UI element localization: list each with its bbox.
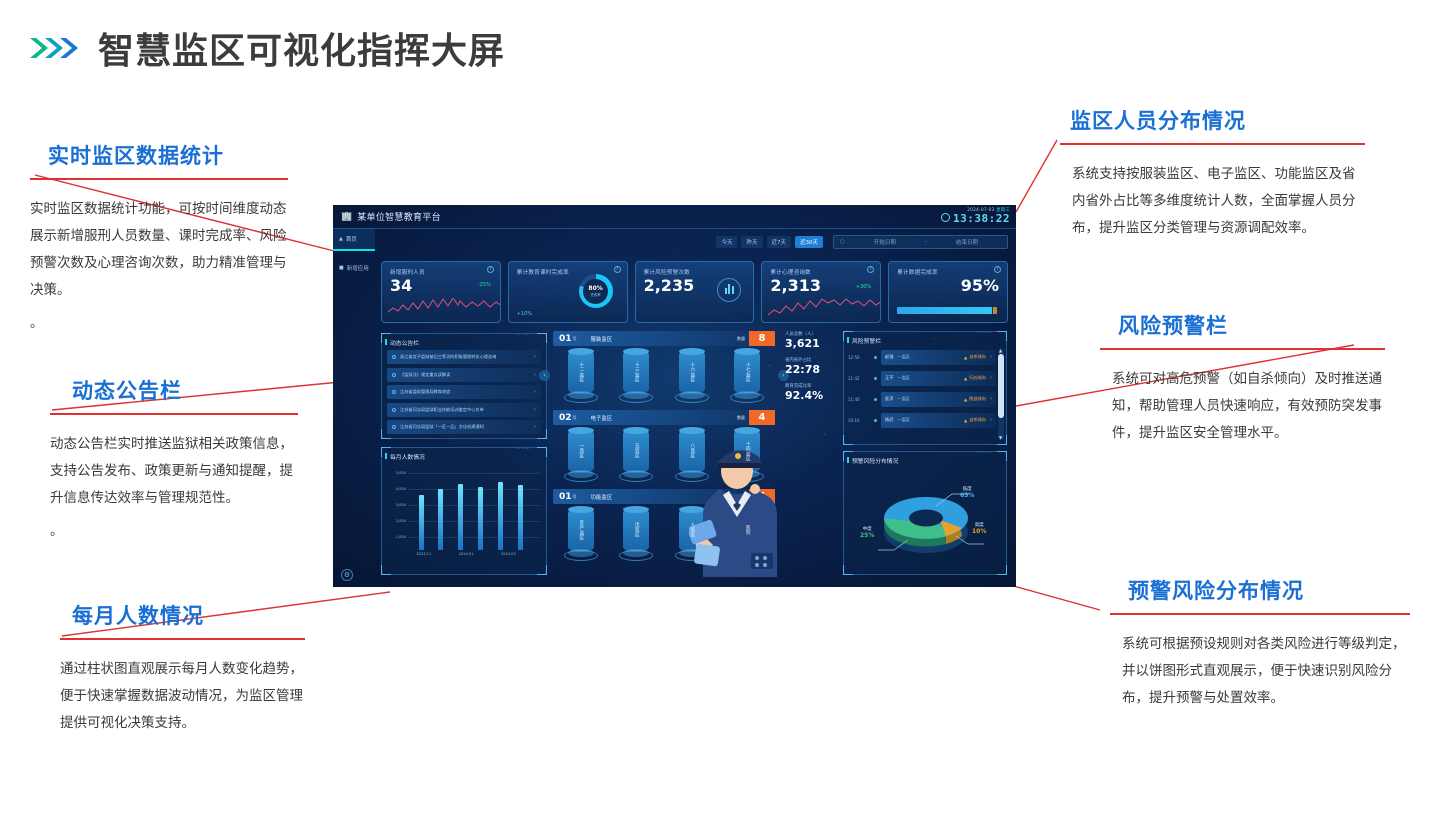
zone-name: 电子监区 bbox=[591, 414, 613, 422]
page-header: 智慧监区可视化指挥大屏 bbox=[28, 22, 505, 74]
callout-body: 通过柱状图直观展示每月人数变化趋势，便于快速掌握数据波动情况，为监区管理提供可视… bbox=[60, 656, 305, 737]
alert-time: 12:50 bbox=[848, 355, 874, 360]
page-title: 智慧监区可视化指挥大屏 bbox=[98, 22, 505, 74]
y-tick: 1,000 bbox=[396, 535, 406, 539]
info-icon[interactable]: ? bbox=[994, 266, 1001, 273]
cell-label: 十六监区 bbox=[689, 362, 695, 383]
chevron-right-icon[interactable]: › bbox=[990, 417, 992, 423]
panel-title: 每月人数情况 bbox=[382, 448, 546, 461]
announcement-text: 江苏省司法局监狱「一区一品」文化创建通知 bbox=[400, 424, 534, 430]
gear-icon[interactable]: ⚙ bbox=[341, 569, 353, 581]
callout-rule bbox=[1100, 348, 1385, 350]
cell-label: 八监区 bbox=[689, 443, 695, 459]
info-icon[interactable]: ? bbox=[867, 266, 874, 273]
kpi-delta: -25% bbox=[478, 282, 491, 288]
legend-value: 10% bbox=[972, 528, 986, 535]
completion-ring-chart: 80% 完成率 bbox=[579, 274, 613, 308]
home-icon: ▲ bbox=[339, 236, 343, 242]
y-axis: 5,000 4,000 3,000 2,000 1,000 bbox=[388, 466, 406, 550]
alert-zone: 一监区 bbox=[897, 375, 910, 381]
chevron-right-icon: › bbox=[534, 407, 536, 413]
building-icon: 🏢 bbox=[341, 212, 352, 222]
alert-name: 赵强 bbox=[885, 354, 893, 360]
alert-tag: ▲脱逃倾向 bbox=[964, 396, 986, 402]
clock-icon bbox=[941, 213, 950, 222]
cell-label: 医院 bbox=[744, 525, 750, 535]
zone-name: 功能监区 bbox=[591, 493, 613, 501]
cell-label: 五监区 bbox=[633, 443, 639, 459]
announcement-list: 浙江省女子监狱被记三等功的积极管理转化心理咨询 › 《监狱法》规定重点读解读 ›… bbox=[382, 347, 546, 434]
stat-value: 92.4% bbox=[785, 389, 841, 402]
callout-heading: 监区人员分布情况 bbox=[1070, 105, 1365, 135]
bar-chart-icon bbox=[717, 278, 741, 302]
status-dot-icon bbox=[874, 356, 877, 359]
ring-percent: 80% bbox=[588, 285, 602, 292]
start-date-input[interactable]: 开始日期 bbox=[851, 238, 919, 246]
callout-risk-distribution: 预警风险分布情况 系统可根据预设规则对各类风险进行等级判定，并以饼图形式直观展示… bbox=[1110, 575, 1410, 712]
x-tick: 2024.03 bbox=[501, 552, 516, 556]
callout-body: 系统可根据预设规则对各类风险进行等级判定，并以饼图形式直观展示，便于快速识别风险… bbox=[1122, 631, 1410, 712]
bar bbox=[498, 482, 503, 550]
kpi-delta: +30% bbox=[856, 284, 871, 290]
callout-trailing: 。 bbox=[30, 312, 288, 331]
list-item[interactable]: 11:42 王不 一监区 ▲行凶倾向 › bbox=[848, 369, 996, 387]
list-item[interactable]: 《监狱法》规定重点读解读 › bbox=[387, 368, 541, 382]
callout-risk-alert-bar: 风险预警栏 系统可对高危预警（如自杀倾向）及时推送通知，帮助管理人员快速响应，有… bbox=[1100, 310, 1385, 447]
kpi-card-data-completion[interactable]: ? 累计数据完成率 95% bbox=[888, 261, 1008, 323]
callout-heading: 实时监区数据统计 bbox=[48, 140, 288, 170]
callout-heading: 动态公告栏 bbox=[72, 375, 298, 405]
chevron-right-icon: › bbox=[534, 372, 536, 378]
callout-body: 系统可对高危预警（如自杀倾向）及时推送通知，帮助管理人员快速响应，有效预防突发事… bbox=[1112, 366, 1385, 447]
alert-tag: ▲行凶倾向 bbox=[964, 375, 986, 381]
range-separator: - bbox=[925, 239, 927, 245]
zone-index: 02 bbox=[559, 413, 572, 423]
y-tick: 5,000 bbox=[396, 471, 406, 475]
callout-realtime-stats: 实时监区数据统计 实时监区数据统计功能，可按时间维度动态展示新增服刑人员数量、课… bbox=[30, 140, 288, 331]
clock-widget: 2024-07-03 星期三 13:38:22 bbox=[953, 207, 1010, 225]
x-tick: 2024.01 bbox=[459, 552, 474, 556]
risk-list-scrollbar[interactable]: ▲ ▼ bbox=[998, 348, 1004, 440]
callout-rule bbox=[1110, 613, 1410, 615]
bar bbox=[518, 485, 523, 550]
zone-index: 01 bbox=[559, 492, 572, 502]
legend-high: 高度 10% bbox=[972, 522, 986, 535]
callout-monthly-count: 每月人数情况 通过柱状图直观展示每月人数变化趋势，便于快速掌握数据波动情况，为监… bbox=[60, 600, 305, 737]
end-date-input[interactable]: 结束日期 bbox=[933, 238, 1001, 246]
zone-unit: 号 bbox=[573, 494, 577, 500]
monthly-bar-chart: 5,000 4,000 3,000 2,000 1,000 202 bbox=[388, 466, 540, 564]
warning-icon: ▲ bbox=[964, 418, 967, 423]
ring-sublabel: 完成率 bbox=[591, 292, 601, 297]
calendar-icon: ○ bbox=[840, 239, 845, 245]
scroll-up-icon[interactable]: ▲ bbox=[999, 348, 1002, 353]
risk-distribution-panel: ······ 预警风险分布情况 低度 65 bbox=[843, 451, 1007, 575]
status-dot-icon bbox=[874, 419, 877, 422]
alert-name: 医浮 bbox=[885, 396, 893, 402]
callout-personnel-distribution: 监区人员分布情况 系统支持按服装监区、电子监区、功能监区及省内省外占比等多维度统… bbox=[1060, 105, 1365, 242]
alert-tag-text: 自杀倾向 bbox=[969, 417, 986, 423]
dashboard-header: 🏢 某单位智慧教育平台 2024-07-03 星期三 13:38:22 bbox=[333, 205, 1016, 229]
bar bbox=[438, 489, 443, 550]
alert-tag: ▲自杀倾向 bbox=[964, 354, 986, 360]
zone-distribution-area: 01 号 服装监区 数量 8 ‹ 十二监区 十三监区 十六监区 十七监区 › 0… bbox=[553, 331, 775, 577]
alert-tag-text: 自杀倾向 bbox=[969, 354, 986, 360]
y-tick: 2,000 bbox=[396, 519, 406, 523]
callout-rule bbox=[1060, 143, 1365, 145]
y-tick: 4,000 bbox=[396, 487, 406, 491]
police-officer-illustration bbox=[689, 427, 779, 577]
alert-tag-text: 行凶倾向 bbox=[969, 375, 986, 381]
stat-value: 3,621 bbox=[785, 337, 841, 350]
kpi-label: 累计数据完成率 bbox=[897, 268, 999, 276]
cell-label: 十四监区 bbox=[744, 441, 750, 462]
announcement-text: 《监狱法》规定重点读解读 bbox=[400, 372, 534, 378]
info-icon[interactable]: ? bbox=[614, 266, 621, 273]
kpi-label: 新增服刑人员 bbox=[390, 268, 492, 276]
announcement-text: 浙江省女子监狱被记三等功的积极管理转化心理咨询 bbox=[400, 354, 534, 360]
zone-header-electronics[interactable]: 02 号 电子监区 数量 4 bbox=[553, 410, 775, 425]
sidebar-item-label: 新增应用 bbox=[347, 264, 369, 272]
callout-heading: 每月人数情况 bbox=[72, 600, 305, 630]
clock-time: 13:38:22 bbox=[953, 213, 1010, 225]
zone-count-label: 数量 bbox=[737, 415, 745, 421]
bullet-icon bbox=[392, 408, 396, 412]
cell-label: 十七监区 bbox=[744, 362, 750, 383]
time-range-tabs[interactable]: 今天 昨天 近7天 近30天 ○ 开始日期 - 结束日期 bbox=[716, 235, 1008, 249]
status-dot-icon bbox=[874, 398, 877, 401]
panel-title: 预警风险分布情况 bbox=[844, 452, 1006, 465]
alert-zone: 一监区 bbox=[897, 396, 910, 402]
warning-icon: ▲ bbox=[964, 355, 967, 360]
kpi-card-counseling[interactable]: ? 累计心理咨询数 2,313 +30% bbox=[761, 261, 881, 323]
monthly-count-panel: ······ 每月人数情况 5,000 4,000 3,000 2,000 1,… bbox=[381, 447, 547, 575]
tab-last-7-days[interactable]: 近7天 bbox=[767, 236, 792, 248]
bullet-icon bbox=[392, 373, 396, 377]
chevrons-icon bbox=[28, 33, 80, 63]
cell-label: 反产监区 bbox=[578, 520, 584, 541]
zone-cell[interactable]: 五监区 bbox=[623, 429, 649, 473]
bar bbox=[458, 484, 463, 550]
plot-area bbox=[408, 466, 540, 550]
bullet-icon bbox=[392, 425, 396, 429]
list-item[interactable]: 11:40 医浮 一监区 ▲脱逃倾向 › bbox=[848, 390, 996, 408]
alert-time: 11:42 bbox=[848, 376, 874, 381]
callout-rule bbox=[50, 413, 298, 415]
bullet-icon bbox=[392, 390, 396, 394]
zone-count-badge: 8 bbox=[749, 331, 775, 346]
kpi-card-course-completion[interactable]: ? 累计教育课时完成率 80% 完成率 +10% bbox=[508, 261, 628, 323]
alert-tag-text: 脱逃倾向 bbox=[969, 396, 986, 402]
donut-svg bbox=[844, 470, 1008, 570]
alert-tag: ▲自杀倾向 bbox=[964, 417, 986, 423]
zone-count-badge: 4 bbox=[749, 410, 775, 425]
x-tick: 2023.11 bbox=[416, 552, 431, 556]
callout-body: 实时监区数据统计功能，可按时间维度动态展示新增服刑人员数量、课时完成率、风险预警… bbox=[30, 196, 288, 304]
kpi-label: 累计心理咨询数 bbox=[770, 268, 872, 276]
summary-stats: 人员总数（人） 3,621 省内省外占比 22:78 教育完成比率 92.4% bbox=[785, 331, 841, 409]
callout-rule bbox=[60, 638, 305, 640]
alert-zone: 一监区 bbox=[897, 354, 910, 360]
zone-cell-row: ‹ 十二监区 十三监区 十六监区 十七监区 › bbox=[553, 346, 775, 410]
list-item[interactable]: 10:10 杨武 一监区 ▲自杀倾向 › bbox=[848, 411, 996, 429]
sidebar-item-home[interactable]: ▲ 首页 bbox=[333, 229, 375, 251]
announcement-text: 江苏省司法局监狱职业技能培训鉴定中心名单 bbox=[400, 407, 534, 413]
alert-name: 杨武 bbox=[885, 417, 893, 423]
tab-yesterday[interactable]: 昨天 bbox=[741, 236, 762, 248]
list-item[interactable]: 浙江省女子监狱被记三等功的积极管理转化心理咨询 › bbox=[387, 350, 541, 364]
date-range-picker[interactable]: ○ 开始日期 - 结束日期 bbox=[833, 235, 1008, 249]
zone-cell[interactable]: 一监区 bbox=[568, 429, 594, 473]
zone-cell[interactable]: 十三监区 bbox=[623, 350, 649, 394]
tab-today[interactable]: 今天 bbox=[716, 236, 737, 248]
cell-label: 出监区 bbox=[633, 522, 639, 538]
list-item[interactable]: 江苏省监狱管理局教育改造 › bbox=[387, 385, 541, 399]
callout-body: 动态公告栏实时推送监狱相关政策信息，支持公告发布、政策更新与通知提醒，提升信息传… bbox=[50, 431, 298, 512]
list-item[interactable]: 江苏省司法局监狱「一区一品」文化创建通知 › bbox=[387, 420, 541, 434]
callout-body: 系统支持按服装监区、电子监区、功能监区及省内省外占比等多维度统计人数，全面掌握人… bbox=[1072, 161, 1365, 242]
zone-unit: 号 bbox=[573, 336, 577, 342]
zone-cell[interactable]: 反产监区 bbox=[568, 508, 594, 552]
status-dot-icon bbox=[874, 377, 877, 380]
bar bbox=[478, 487, 483, 550]
kpi-value: 34 bbox=[390, 277, 492, 295]
risk-alert-panel: ······ 风险预警栏 12:50 赵强 一监区 ▲自杀倾向 › 11:42 … bbox=[843, 331, 1007, 445]
chevron-right-icon[interactable]: › bbox=[990, 375, 992, 381]
cell-label: 十二监区 bbox=[578, 362, 584, 383]
zone-cell[interactable]: 十六监区 bbox=[679, 350, 705, 394]
announcement-panel: ······ 动态公告栏 浙江省女子监狱被记三等功的积极管理转化心理咨询 › 《… bbox=[381, 333, 547, 439]
kpi-card-row: ? 新增服刑人员 34 -25% ? 累计教育课时完成率 80% 完成率 +10… bbox=[381, 261, 1008, 323]
alert-name: 王不 bbox=[885, 375, 893, 381]
cell-label: 入监区 bbox=[689, 522, 695, 538]
risk-alert-list: 12:50 赵强 一监区 ▲自杀倾向 › 11:42 王不 一监区 ▲行凶倾向 … bbox=[848, 348, 996, 440]
stat-value: 22:78 bbox=[785, 363, 841, 376]
cell-label: 一监区 bbox=[578, 443, 584, 459]
sidebar-item-label: 首页 bbox=[346, 235, 357, 243]
list-item[interactable]: 江苏省司法局监狱职业技能培训鉴定中心名单 › bbox=[387, 403, 541, 417]
callout-announcement-board: 动态公告栏 动态公告栏实时推送监狱相关政策信息，支持公告发布、政策更新与通知提醒… bbox=[50, 375, 298, 539]
completion-progress-bar bbox=[897, 307, 997, 314]
kpi-value: 95% bbox=[897, 277, 999, 295]
warning-icon: ▲ bbox=[964, 376, 967, 381]
info-icon[interactable]: ? bbox=[487, 266, 494, 273]
tab-last-30-days[interactable]: 近30天 bbox=[795, 236, 823, 248]
legend-low: 低度 65% bbox=[960, 486, 974, 499]
announcement-text: 江苏省监狱管理局教育改造 bbox=[400, 389, 534, 395]
panel-title: 风险预警栏 bbox=[844, 332, 1006, 345]
sparkline-chart bbox=[768, 298, 881, 318]
x-axis: 2023.11 2024.01 2024.03 bbox=[408, 552, 540, 564]
legend-medium: 中度 25% bbox=[860, 526, 874, 539]
apps-icon: ■ bbox=[339, 265, 344, 271]
sparkline-chart bbox=[388, 298, 501, 318]
zone-index: 01 bbox=[559, 334, 572, 344]
kpi-card-risk-alerts[interactable]: 累计风险预警次数 2,235 bbox=[635, 261, 755, 323]
warning-icon: ▲ bbox=[964, 397, 967, 402]
panel-title: 动态公告栏 bbox=[382, 334, 546, 347]
callout-trailing: 。 bbox=[50, 520, 298, 539]
scrollbar-thumb[interactable] bbox=[998, 354, 1004, 418]
bar bbox=[419, 495, 424, 550]
kpi-label: 累计风险预警次数 bbox=[644, 268, 746, 276]
legend-value: 65% bbox=[960, 492, 974, 499]
kpi-delta: +10% bbox=[517, 311, 532, 317]
app-title: 某单位智慧教育平台 bbox=[357, 210, 441, 223]
zone-name: 服装监区 bbox=[591, 335, 613, 343]
dashboard-screenshot[interactable]: 🏢 某单位智慧教育平台 2024-07-03 星期三 13:38:22 ▲ 首页… bbox=[333, 205, 1016, 587]
prev-page-icon[interactable]: ‹ bbox=[539, 370, 550, 381]
dashboard-sidebar: ▲ 首页 ■ 新增应用 bbox=[333, 229, 375, 587]
callout-heading: 预警风险分布情况 bbox=[1128, 575, 1410, 605]
chevron-right-icon: › bbox=[534, 424, 536, 430]
callout-heading: 风险预警栏 bbox=[1118, 310, 1385, 340]
chevron-right-icon: › bbox=[534, 389, 536, 395]
scroll-down-icon[interactable]: ▼ bbox=[999, 435, 1002, 440]
chevron-right-icon: › bbox=[534, 354, 536, 360]
kpi-card-new-inmates[interactable]: ? 新增服刑人员 34 -25% bbox=[381, 261, 501, 323]
risk-donut-chart: 低度 65% 中度 25% 高度 10% bbox=[844, 470, 1006, 570]
cell-label: 十三监区 bbox=[633, 362, 639, 383]
chevron-right-icon[interactable]: › bbox=[990, 396, 992, 402]
sidebar-item-apps[interactable]: ■ 新增应用 bbox=[333, 257, 375, 279]
bullet-icon bbox=[392, 355, 396, 359]
zone-cell[interactable]: 十二监区 bbox=[568, 350, 594, 394]
zone-count-label: 数量 bbox=[737, 336, 745, 342]
y-tick: 3,000 bbox=[396, 503, 406, 507]
zone-header-clothing[interactable]: 01 号 服装监区 数量 8 bbox=[553, 331, 775, 346]
list-item[interactable]: 12:50 赵强 一监区 ▲自杀倾向 › bbox=[848, 348, 996, 366]
alert-time: 11:40 bbox=[848, 397, 874, 402]
alert-zone: 一监区 bbox=[897, 417, 910, 423]
alert-time: 10:10 bbox=[848, 418, 874, 423]
zone-cell[interactable]: 出监区 bbox=[623, 508, 649, 552]
chevron-right-icon[interactable]: › bbox=[990, 354, 992, 360]
callout-rule bbox=[30, 178, 288, 180]
legend-value: 25% bbox=[860, 532, 874, 539]
zone-cell[interactable]: 十七监区 bbox=[734, 350, 760, 394]
zone-unit: 号 bbox=[573, 415, 577, 421]
